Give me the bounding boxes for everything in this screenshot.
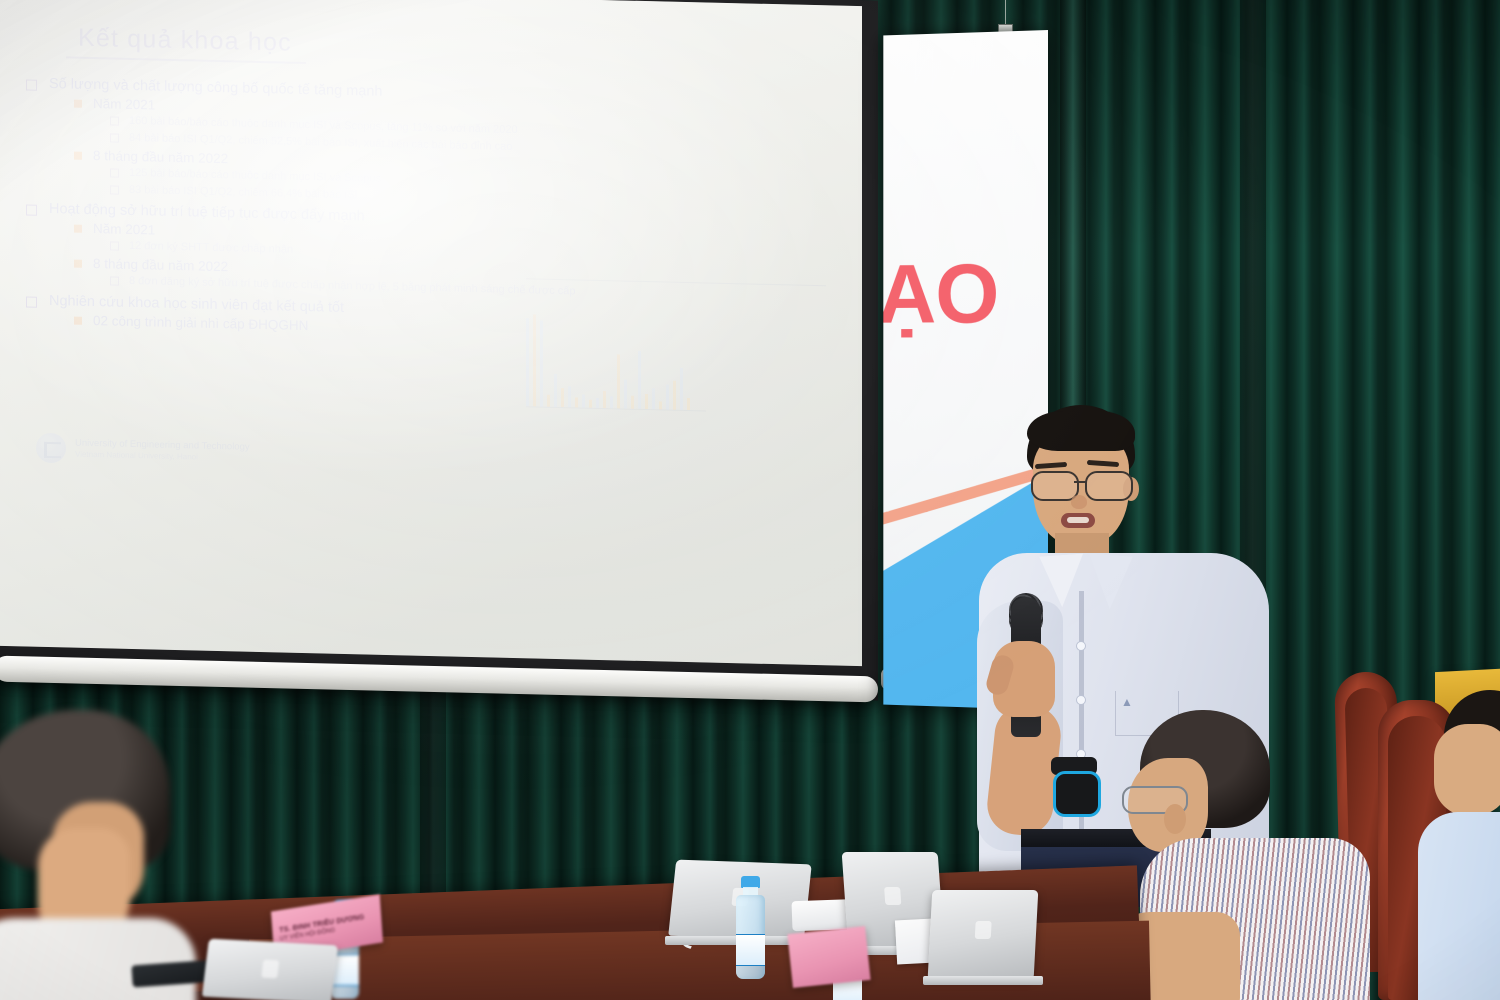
slide-footer: University of Engineering and Technology… xyxy=(36,433,250,468)
bottle-label xyxy=(736,934,765,966)
lens-right xyxy=(1085,471,1133,501)
chart-bar xyxy=(666,385,669,410)
bullet-text: 02 công trình giải nhì cấp ĐHQGHN xyxy=(93,313,308,333)
shirt-button xyxy=(1076,695,1086,705)
attendee-right-edge xyxy=(1430,690,1500,1000)
chart-bar xyxy=(652,388,655,409)
chart-bar xyxy=(575,398,578,408)
bullet-text: 83 bài báo ISI Q1/Q2, chiếm 66,4% bài bá… xyxy=(129,182,358,202)
chart-bars xyxy=(526,310,706,410)
chart-bar xyxy=(631,395,634,409)
presenter-nose xyxy=(1071,495,1087,509)
chart-bar xyxy=(624,380,627,409)
title-underline xyxy=(66,56,306,64)
chart-bar xyxy=(533,314,536,406)
chart-bar xyxy=(582,394,585,408)
chart-bar xyxy=(659,402,662,410)
attendee-ear xyxy=(1164,804,1186,834)
chart-bar xyxy=(526,318,529,406)
name-card-line-2 xyxy=(797,955,861,962)
screen-surface: Kết quả khoa học Số lượng và chất lượng … xyxy=(0,0,862,666)
bullet-text: 8 tháng đầu năm 2022 xyxy=(93,148,228,166)
lens-left xyxy=(1031,471,1079,501)
hollow-square-icon xyxy=(26,205,37,216)
footer-text: University of Engineering and Technology… xyxy=(75,438,250,464)
shirt-button xyxy=(1076,641,1086,651)
chart-bar xyxy=(638,351,641,409)
chart-bars xyxy=(526,178,826,285)
hollow-square-icon xyxy=(110,116,119,125)
hollow-square-icon xyxy=(110,242,119,251)
presenter-teeth xyxy=(1067,517,1089,523)
hollow-square-icon xyxy=(110,277,119,286)
hollow-square-icon xyxy=(26,297,37,308)
laptop xyxy=(205,942,335,1000)
laptop xyxy=(930,890,1036,978)
name-card-line-1 xyxy=(797,953,861,960)
banner-word: ẠO xyxy=(883,246,998,343)
projection-screen: Kết quả khoa học Số lượng và chất lượng … xyxy=(0,0,892,720)
filled-square-icon xyxy=(74,317,82,325)
chart-bar xyxy=(554,374,557,407)
chart-intellectual-property xyxy=(526,306,706,422)
filled-square-icon xyxy=(74,151,82,159)
name-card xyxy=(787,926,870,988)
chart-bar xyxy=(645,394,648,409)
chart-bar xyxy=(687,399,690,411)
hollow-square-icon xyxy=(110,168,119,177)
presenter-hair-fringe xyxy=(1027,411,1135,451)
chart-bar xyxy=(596,398,599,408)
filled-square-icon xyxy=(74,260,82,268)
laptop-lid xyxy=(202,939,338,1000)
laptop-base xyxy=(923,976,1043,985)
attendee-shirt xyxy=(1418,812,1500,1000)
chart-bar xyxy=(561,388,564,407)
hollow-square-icon xyxy=(110,133,119,142)
bullet-text: Năm 2021 xyxy=(93,96,155,112)
filled-square-icon xyxy=(74,100,82,108)
laptop-lid xyxy=(928,890,1039,978)
filled-square-icon xyxy=(74,225,82,233)
bullet-text: 8 tháng đầu năm 2022 xyxy=(93,256,228,274)
bullet-text: 12 đơn ký SHTT được chấp nhận xyxy=(129,239,293,258)
conference-room-photo: Kết quả khoa học Số lượng và chất lượng … xyxy=(0,0,1500,1000)
chart-bar xyxy=(673,381,676,410)
attendee-shirt xyxy=(0,918,196,1000)
chart-bar xyxy=(589,400,592,408)
university-logo-icon xyxy=(36,433,66,464)
hollow-square-icon xyxy=(26,79,37,90)
projected-slide: Kết quả khoa học Số lượng và chất lượng … xyxy=(26,22,826,511)
hollow-square-icon xyxy=(110,185,119,194)
chart-bar xyxy=(568,386,571,407)
chart-publications-by-year xyxy=(526,172,826,297)
chart-bar xyxy=(610,397,613,409)
chart-bar xyxy=(617,355,620,409)
slide-title: Kết quả khoa học xyxy=(26,22,826,70)
glasses-icon xyxy=(1031,471,1135,497)
bullet-text: Năm 2021 xyxy=(93,221,155,237)
chart-bar xyxy=(547,395,550,407)
smartwatch xyxy=(1053,771,1101,817)
chart-bar xyxy=(680,368,683,410)
attendee-face xyxy=(1434,724,1500,816)
chart-bar xyxy=(540,320,543,406)
chart-bar xyxy=(603,391,606,408)
glasses-bridge xyxy=(1074,481,1087,483)
